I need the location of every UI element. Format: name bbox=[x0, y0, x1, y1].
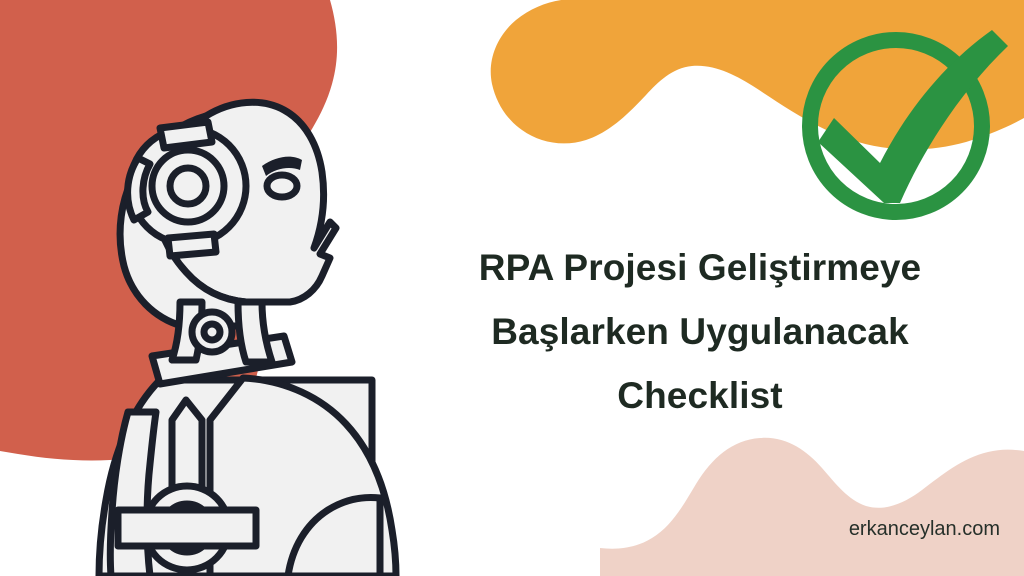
robot-neck-right bbox=[238, 302, 272, 362]
site-url-text: erkanceylan.com bbox=[0, 518, 1000, 541]
title-line-1: RPA Projesi Geliştirmeye bbox=[400, 236, 1000, 300]
robot-ear-tab-bottom bbox=[168, 234, 216, 256]
robot-ear-dial-inner bbox=[170, 168, 206, 204]
title-line-3: Checklist bbox=[400, 364, 1000, 428]
slide-canvas: RPA Projesi Geliştirmeye Başlarken Uygul… bbox=[0, 0, 1024, 576]
robot-eye bbox=[267, 175, 297, 197]
robot-ear-tab-top bbox=[160, 122, 212, 148]
page-title: RPA Projesi Geliştirmeye Başlarken Uygul… bbox=[400, 236, 1000, 428]
robot-neck-joint-core bbox=[204, 324, 220, 340]
title-line-2: Başlarken Uygulanacak bbox=[400, 300, 1000, 364]
